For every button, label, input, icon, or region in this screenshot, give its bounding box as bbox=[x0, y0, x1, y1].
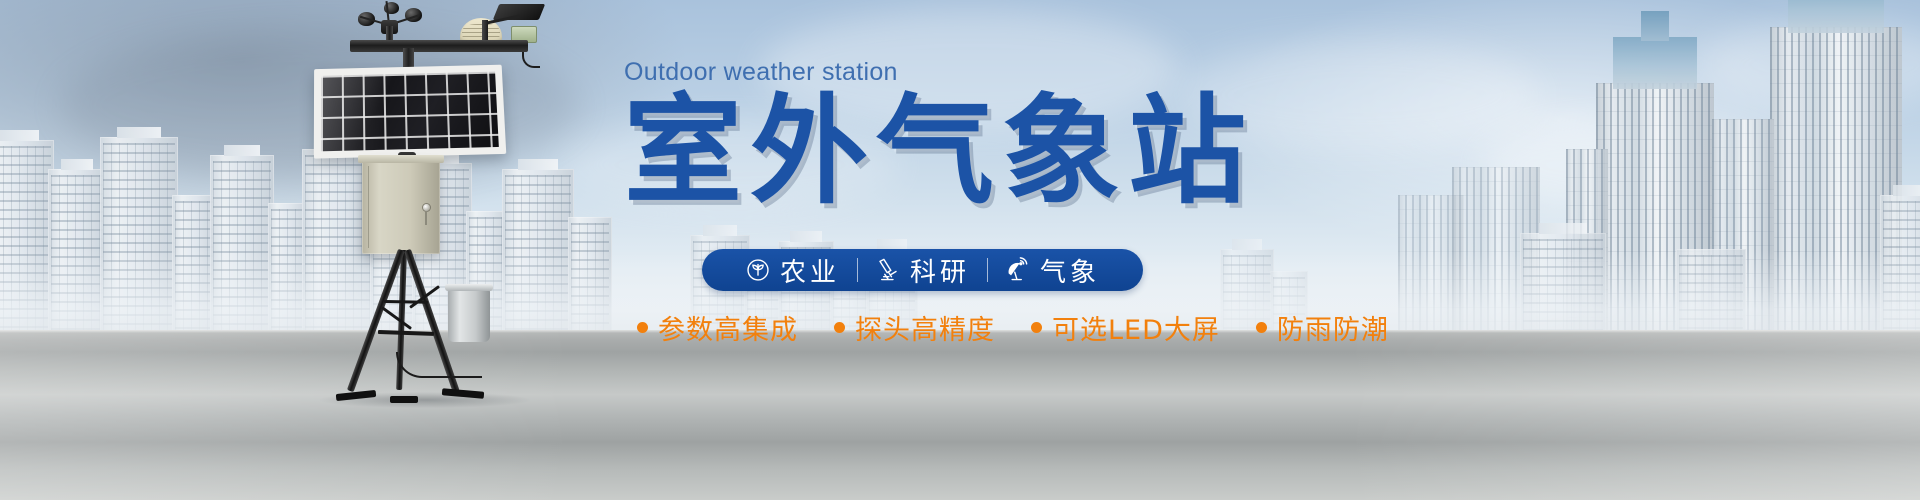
badge-item-agriculture: 农业 bbox=[728, 252, 857, 289]
bullet-dot-icon bbox=[1031, 322, 1042, 333]
badge-label: 农业 bbox=[780, 252, 840, 289]
enclosure-cabinet bbox=[362, 160, 440, 254]
tripod-brace bbox=[381, 306, 412, 330]
skyscraper-crown bbox=[1613, 37, 1698, 89]
solar-panel bbox=[314, 65, 506, 159]
cross-arm bbox=[350, 40, 528, 52]
feature-bullet-list: 参数高集成 探头高精度 可选LED大屏 防雨防潮 bbox=[637, 308, 1389, 347]
cabinet-lock bbox=[423, 204, 430, 211]
feature-bullet: 参数高集成 bbox=[637, 308, 798, 347]
badge-item-meteorology: 气象 bbox=[988, 252, 1117, 289]
bullet-label: 可选LED大屏 bbox=[1052, 308, 1220, 347]
skyscraper-crown bbox=[1788, 0, 1883, 33]
badge-item-research: 科研 bbox=[858, 252, 987, 289]
application-badge: 农业 科研 气象 bbox=[702, 249, 1143, 291]
feature-bullet: 防雨防潮 bbox=[1256, 308, 1389, 347]
headline-block: Outdoor weather station 室外气象站 bbox=[624, 58, 1384, 211]
plant-sprout-icon bbox=[745, 257, 771, 283]
bullet-label: 探头高精度 bbox=[855, 308, 995, 347]
tripod-brace bbox=[378, 330, 434, 336]
satellite-dish-icon bbox=[1005, 257, 1031, 283]
wind-vane-post bbox=[482, 20, 488, 42]
ground-surface bbox=[0, 330, 1920, 500]
cabinet-seam bbox=[368, 166, 369, 248]
bullet-dot-icon bbox=[637, 322, 648, 333]
bullet-label: 参数高集成 bbox=[658, 308, 798, 347]
tripod-foot bbox=[390, 396, 418, 403]
feature-bullet: 可选LED大屏 bbox=[1031, 308, 1220, 347]
page-title: 室外气象站 bbox=[624, 91, 1384, 211]
feature-bullet: 探头高精度 bbox=[834, 308, 995, 347]
bullet-label: 防雨防潮 bbox=[1277, 308, 1389, 347]
weather-station-product bbox=[300, 0, 560, 400]
product-banner: Outdoor weather station 室外气象站 农业 bbox=[0, 0, 1920, 500]
solar-cells bbox=[321, 72, 499, 152]
rain-gauge-bucket bbox=[448, 288, 490, 342]
sensor-hose bbox=[396, 352, 482, 378]
badge-label: 科研 bbox=[910, 252, 970, 289]
badge-label: 气象 bbox=[1040, 252, 1100, 289]
bullet-dot-icon bbox=[1256, 322, 1267, 333]
microscope-icon bbox=[875, 257, 901, 283]
bullet-dot-icon bbox=[834, 322, 845, 333]
